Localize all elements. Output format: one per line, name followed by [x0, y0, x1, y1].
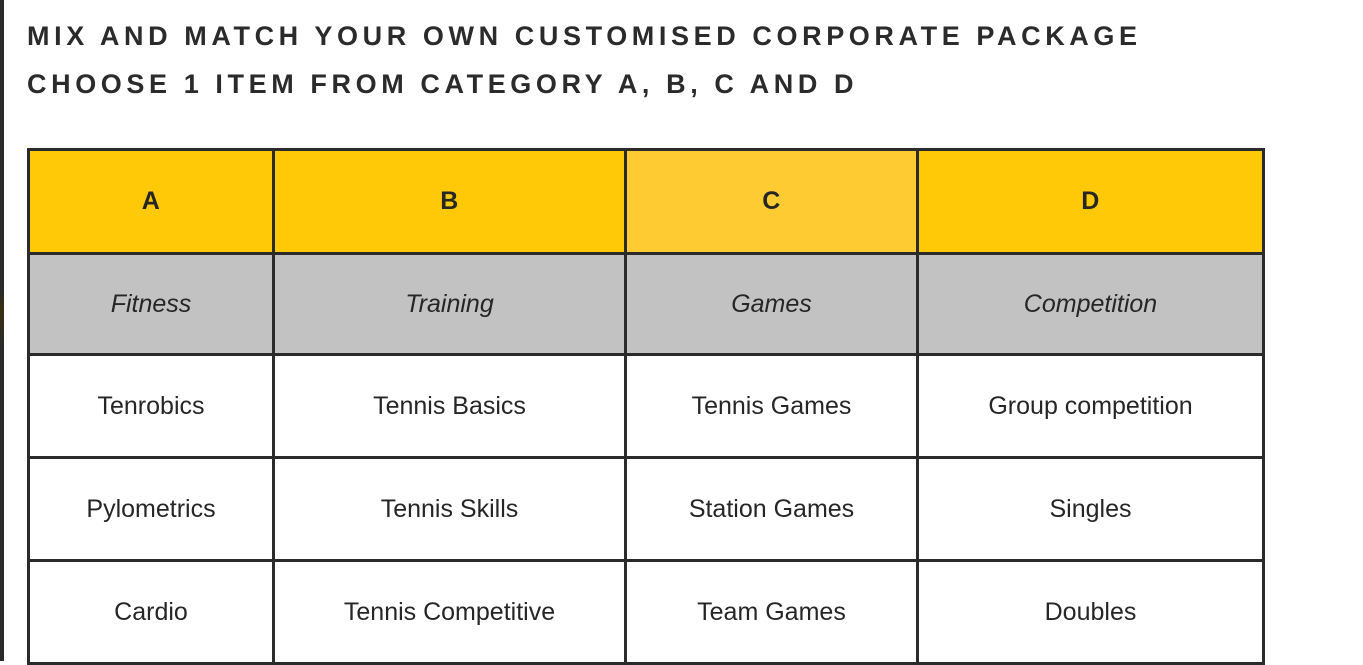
- item-option[interactable]: Station Games: [626, 458, 918, 561]
- category-letter-a: A: [29, 150, 274, 254]
- table-row-category-names: Fitness Training Games Competition: [29, 254, 1264, 355]
- heading-line-1: MIX AND MATCH YOUR OWN CUSTOMISED CORPOR…: [27, 12, 1347, 60]
- table-row-category-letters: A B C D: [29, 150, 1264, 254]
- category-name-c: Games: [626, 254, 918, 355]
- category-letter-b: B: [274, 150, 626, 254]
- item-option[interactable]: Tennis Skills: [274, 458, 626, 561]
- item-option[interactable]: Singles: [918, 458, 1264, 561]
- item-option[interactable]: Group competition: [918, 355, 1264, 458]
- item-option[interactable]: Cardio: [29, 561, 274, 664]
- category-letter-c: C: [626, 150, 918, 254]
- package-selector-page: MIX AND MATCH YOUR OWN CUSTOMISED CORPOR…: [0, 0, 1363, 661]
- item-option[interactable]: Team Games: [626, 561, 918, 664]
- item-option[interactable]: Tennis Basics: [274, 355, 626, 458]
- item-option[interactable]: Tennis Competitive: [274, 561, 626, 664]
- category-name-b: Training: [274, 254, 626, 355]
- item-option[interactable]: Tenrobics: [29, 355, 274, 458]
- page-left-edge-strip: [0, 0, 4, 661]
- category-name-d: Competition: [918, 254, 1264, 355]
- item-option[interactable]: Pylometrics: [29, 458, 274, 561]
- item-option[interactable]: Tennis Games: [626, 355, 918, 458]
- category-table-container: A B C D Fitness Training Games Competiti…: [27, 148, 1262, 665]
- item-option[interactable]: Doubles: [918, 561, 1264, 664]
- table-row: Cardio Tennis Competitive Team Games Dou…: [29, 561, 1264, 664]
- table-row: Pylometrics Tennis Skills Station Games …: [29, 458, 1264, 561]
- category-name-a: Fitness: [29, 254, 274, 355]
- heading-line-2: CHOOSE 1 ITEM FROM CATEGORY A, B, C AND …: [27, 60, 1347, 108]
- category-table: A B C D Fitness Training Games Competiti…: [27, 148, 1265, 665]
- category-letter-d: D: [918, 150, 1264, 254]
- table-row: Tenrobics Tennis Basics Tennis Games Gro…: [29, 355, 1264, 458]
- page-heading: MIX AND MATCH YOUR OWN CUSTOMISED CORPOR…: [27, 12, 1347, 108]
